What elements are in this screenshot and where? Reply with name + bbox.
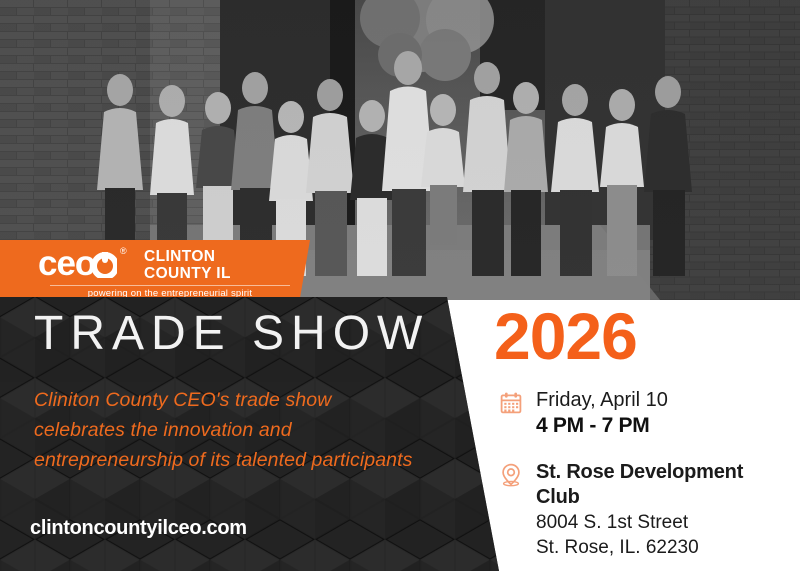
page-title: TRADE SHOW (34, 308, 429, 360)
ceo-logo-banner: ceo ® CLINTON COUNTY IL powering on the … (0, 240, 340, 298)
website-link[interactable]: clintoncountyilceo.com (30, 517, 247, 540)
event-date-text: Friday, April 10 4 PM - 7 PM (536, 388, 668, 438)
logo-lockup: ceo ® CLINTON COUNTY IL (38, 246, 231, 286)
map-pin-icon (500, 462, 522, 488)
ceo-wordmark: ceo ® (38, 246, 126, 286)
logo-name-line-2: COUNTY IL (144, 265, 231, 282)
event-venue-row: St. Rose Development Club 8004 S. 1st St… (500, 460, 790, 560)
event-year: 2026 (494, 303, 637, 369)
event-details: Friday, April 10 4 PM - 7 PM St. Rose De… (500, 388, 790, 571)
ceo-wordmark-text: ceo (38, 244, 95, 284)
calendar-icon (500, 390, 522, 416)
power-button-icon (93, 248, 117, 278)
event-day: Friday, April 10 (536, 388, 668, 413)
event-date-row: Friday, April 10 4 PM - 7 PM (500, 388, 790, 438)
logo-tagline: powering on the entrepreneurial spirit (50, 288, 290, 298)
venue-street: 8004 S. 1st Street (536, 510, 790, 535)
event-venue-text: St. Rose Development Club 8004 S. 1st St… (536, 460, 790, 560)
registered-trademark-icon: ® (120, 246, 127, 256)
trade-show-poster: ceo ® CLINTON COUNTY IL powering on the … (0, 0, 800, 571)
tagline-divider (50, 285, 290, 286)
logo-name: CLINTON COUNTY IL (144, 246, 231, 282)
event-time: 4 PM - 7 PM (536, 413, 668, 438)
description-text: Cliniton County CEO's trade show celebra… (34, 385, 414, 475)
logo-name-line-1: CLINTON (144, 248, 231, 265)
venue-name: St. Rose Development Club (536, 460, 790, 510)
venue-city-state-zip: St. Rose, IL. 62230 (536, 535, 790, 560)
